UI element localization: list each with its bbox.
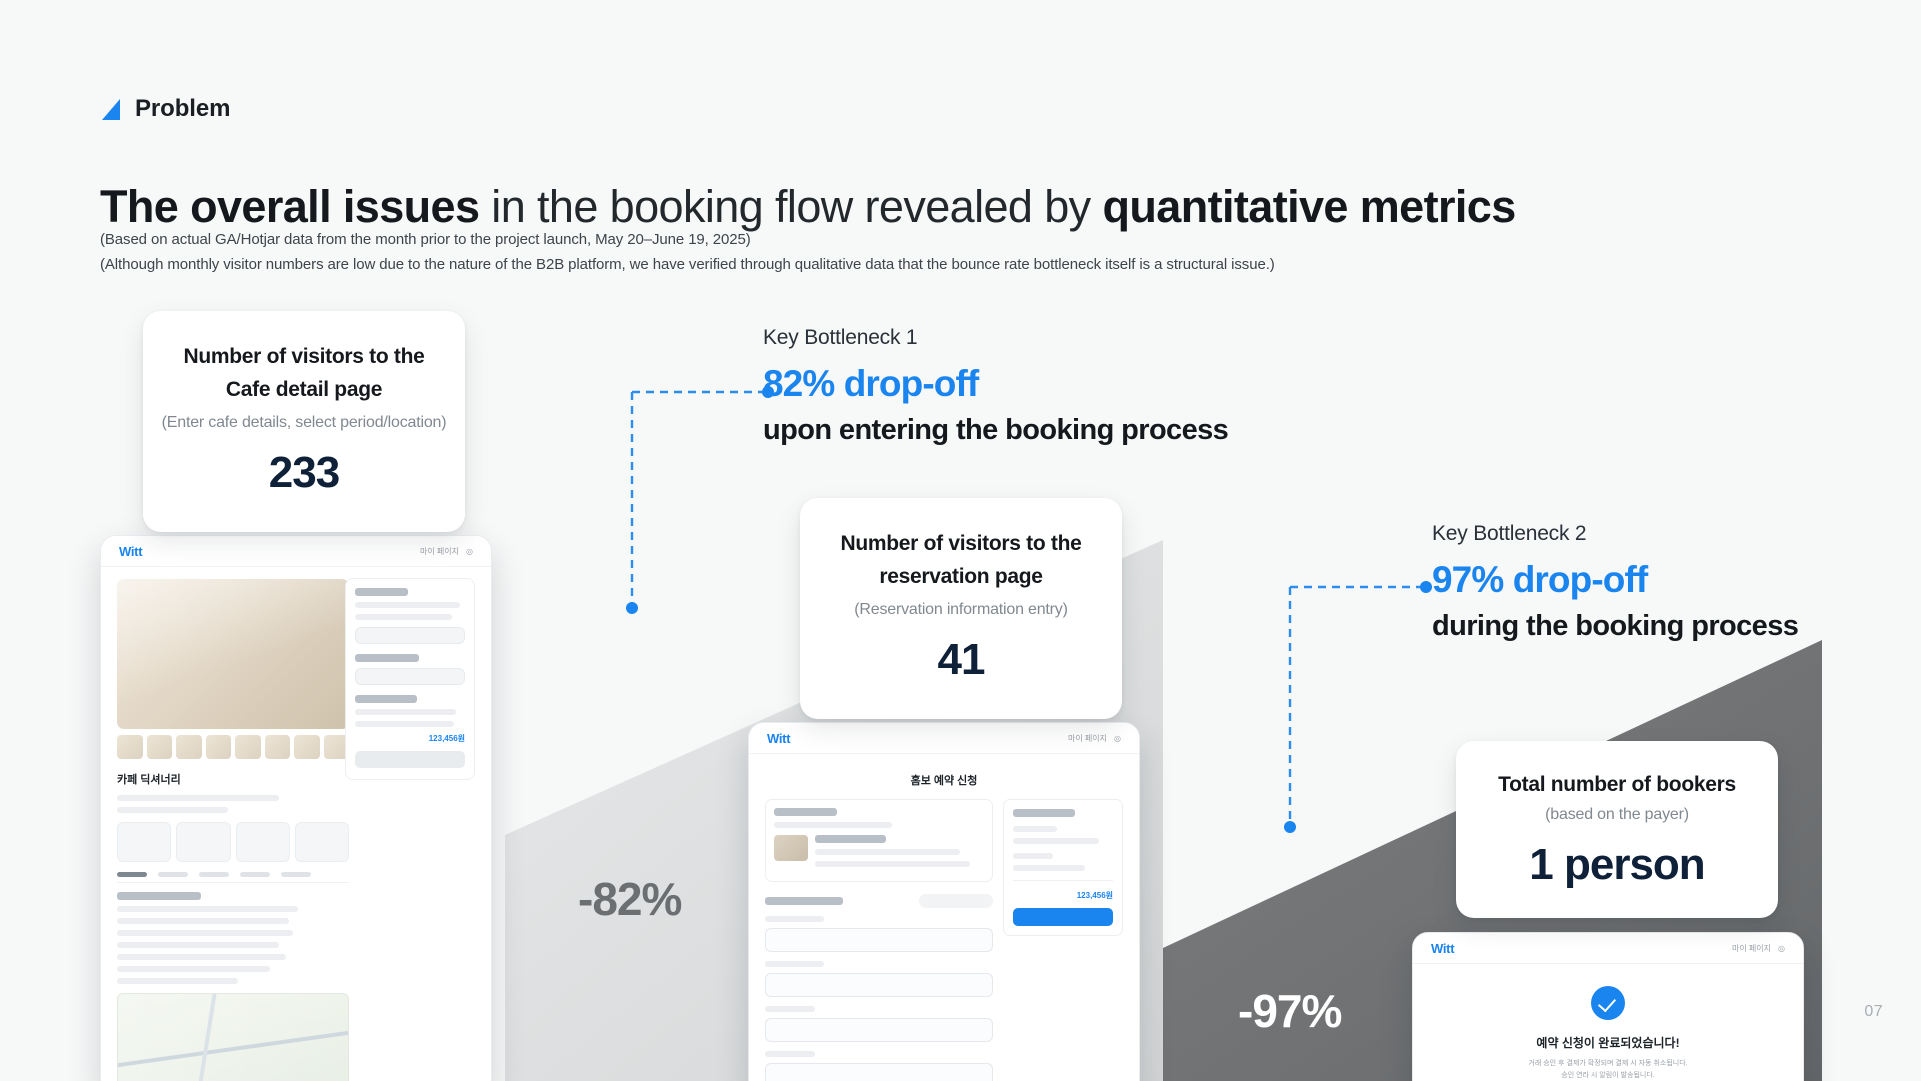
completion-title: 예약 신청이 완료되었습니다! [1413,1034,1803,1051]
cafe-name: 카페 딕셔너리 [117,771,349,787]
metric-card-bookers-value: 1 person [1474,840,1760,890]
headline-bold-second: quantitative metrics [1103,181,1516,232]
mockup-detail-mypage-label: 마이 페이지 [420,546,459,557]
metric-card-cafe-value: 233 [161,448,447,498]
page-number: 07 [1864,1003,1883,1021]
mockup-form-topbar: Witt 마이 페이지 ◎ [749,723,1139,754]
stat-tile [295,822,349,862]
stat-tile [236,822,290,862]
item-thumbnail [774,835,808,861]
brand-logo-witt: Witt [767,731,790,746]
completion-subtitle: 거래 승인 후 결제가 확정되며 결제 시 자동 취소됩니다. 승인 연라 시 … [1413,1058,1803,1081]
load-saved-info-button[interactable] [919,894,993,908]
headline-regular: in the booking flow revealed by [479,181,1102,232]
blue-triangle-icon [100,97,122,121]
connector-line-2 [1278,575,1438,840]
form-estimated-price-value: 123,456원 [1013,890,1113,901]
thumbnail[interactable] [117,735,143,759]
tab-visitor-info[interactable] [199,872,229,877]
mockup-form-mypage-label: 마이 페이지 [1068,733,1107,744]
note-line-1: (Based on actual GA/Hotjar data from the… [100,228,1275,253]
metric-card-cafe-visitors: Number of visitors to the Cafe detail pa… [143,311,465,532]
thumbnail[interactable] [147,735,173,759]
mockup-form-body: 홈보 예약 신청 [749,754,1139,1081]
user-circle-icon: ◎ [1114,734,1121,743]
metric-card-reservation-title: Number of visitors to the reservation pa… [818,528,1104,593]
callout-bottleneck-1: Key Bottleneck 1 82% drop-off upon enter… [763,326,1228,447]
metric-card-total-bookers: Total number of bookers (based on the pa… [1456,741,1778,918]
metric-card-reservation-visitors: Number of visitors to the reservation pa… [800,498,1122,719]
page-title: The overall issues in the booking flow r… [100,182,1516,232]
company-name-input[interactable] [765,928,993,952]
thumbnail[interactable] [235,735,261,759]
estimated-price-value: 123,456원 [355,733,465,744]
completion-sub-line-2: 승인 연라 시 알림이 발송됩니다. [1413,1070,1803,1081]
callout-stat-1: 82% drop-off [763,363,1228,405]
callout-description-2: during the booking process [1432,610,1798,643]
mockup-completion-page: Witt 마이 페이지 ◎ 예약 신청이 완료되었습니다! 거래 승인 후 결제… [1412,932,1804,1081]
tab-notes[interactable] [281,872,311,877]
metric-card-cafe-subtitle: (Enter cafe details, select period/locat… [161,414,447,432]
thumbnail[interactable] [294,735,320,759]
mockup-detail-topright: 마이 페이지 ◎ [420,546,473,557]
brand-logo-witt: Witt [1431,941,1454,956]
eyebrow-label: Problem [135,95,230,123]
cafe-hero-image [117,579,349,729]
cafe-location-map[interactable] [117,993,349,1081]
headline-bold-first: The overall issues [100,181,479,232]
reservation-summary-card: 123,456원 [1003,799,1123,936]
thumbnail[interactable] [206,735,232,759]
stat-tile [176,822,230,862]
mockup-detail-body: 카페 딕셔너리 [101,567,491,1081]
brand-logo-witt: Witt [119,544,142,559]
metric-card-reservation-value: 41 [818,635,1104,685]
completion-sub-line-1: 거래 승인 후 결제가 확정되며 결제 시 자동 취소됩니다. [1413,1058,1803,1070]
space-select[interactable] [355,668,465,685]
thumbnail[interactable] [176,735,202,759]
period-select[interactable] [355,627,465,644]
connector-dot-end-2 [1420,581,1432,593]
manager-name-input[interactable] [765,973,993,997]
reserve-button[interactable] [355,751,465,768]
metric-card-reservation-title-line-1: Number of visitors to the [818,528,1104,561]
subtitle-notes: (Based on actual GA/Hotjar data from the… [100,228,1275,278]
selected-item-card [765,799,993,882]
user-circle-icon: ◎ [466,547,473,556]
section-eyebrow: Problem [100,95,230,123]
step-percent-1: -82% [578,872,681,926]
connector-dot-start-2 [1284,821,1296,833]
note-line-2: (Although monthly visitor numbers are lo… [100,253,1275,278]
tab-trade-info[interactable] [158,872,188,877]
step-percent-2: -97% [1238,984,1341,1038]
metric-card-bookers-subtitle: (based on the payer) [1474,806,1760,824]
callout-bottleneck-2: Key Bottleneck 2 97% drop-off during the… [1432,522,1798,643]
tab-cafe-info[interactable] [117,872,147,877]
mockup-done-topright: 마이 페이지 ◎ [1732,943,1785,954]
cafe-stat-tiles [117,822,349,862]
callout-stat-2: 97% drop-off [1432,559,1798,601]
stat-tile [117,822,171,862]
callout-kicker-1: Key Bottleneck 1 [763,326,1228,350]
user-circle-icon: ◎ [1778,944,1785,953]
mockup-reservation-form-page: Witt 마이 페이지 ◎ 홈보 예약 신청 [748,722,1140,1081]
completion-content: 예약 신청이 완료되었습니다! 거래 승인 후 결제가 확정되며 결제 시 자동… [1413,964,1803,1081]
callout-kicker-2: Key Bottleneck 2 [1432,522,1798,546]
reservation-form-title: 홈보 예약 신청 [765,772,1123,788]
mockup-done-mypage-label: 마이 페이지 [1732,943,1771,954]
metric-card-cafe-title-line-1: Number of visitors to the [161,341,447,374]
success-check-icon [1591,986,1625,1020]
metric-card-bookers-title: Total number of bookers [1474,771,1760,798]
mockup-detail-topbar: Witt 마이 페이지 ◎ [101,536,491,567]
mockup-form-topright: 마이 페이지 ◎ [1068,733,1121,744]
mockup-cafe-detail-page: Witt 마이 페이지 ◎ 카페 딕셔너리 [100,535,492,1081]
metric-card-cafe-title-line-2: Cafe detail page [161,374,447,407]
phone-input[interactable] [765,1018,993,1042]
metric-card-cafe-title: Number of visitors to the Cafe detail pa… [161,341,447,406]
email-input[interactable] [765,1063,993,1081]
metric-card-reservation-subtitle: (Reservation information entry) [818,601,1104,619]
metric-card-reservation-title-line-2: reservation page [818,561,1104,594]
mockup-done-topbar: Witt 마이 페이지 ◎ [1413,933,1803,964]
tab-approval-info[interactable] [240,872,270,877]
slide-root: -82% -97% Problem The overall issues in … [0,0,1921,1081]
cafe-info-tabs[interactable] [117,872,349,883]
booking-option-panel: 123,456원 [345,578,475,780]
callout-description-1: upon entering the booking process [763,414,1228,447]
connector-dot-start-1 [626,602,638,614]
cafe-thumbnail-strip [117,735,349,759]
pay-button[interactable] [1013,908,1113,926]
connector-line-1 [620,380,780,620]
thumbnail[interactable] [265,735,291,759]
